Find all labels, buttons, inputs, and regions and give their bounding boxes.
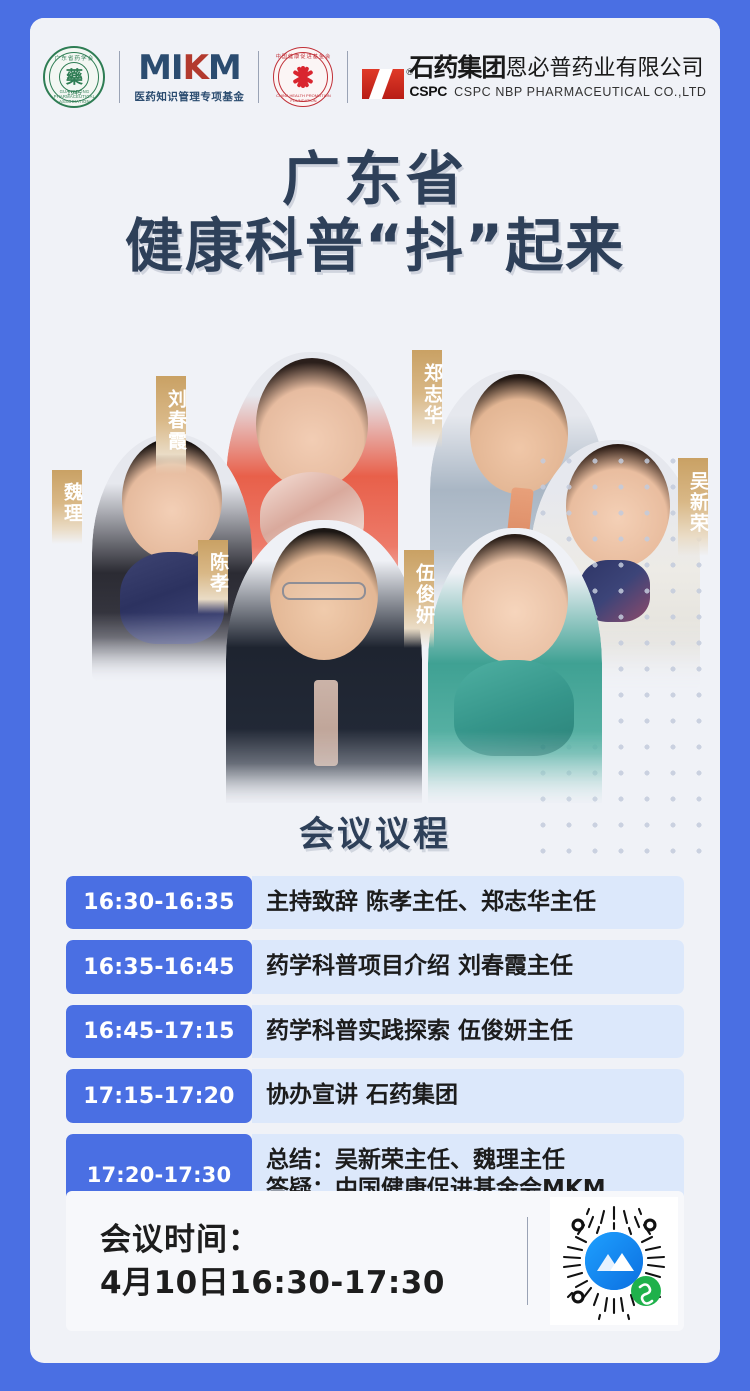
agenda-row: 17:15-17:20 协办宣讲 石药集团 — [66, 1069, 684, 1122]
speaker-head-wujunyan — [462, 534, 568, 664]
speaker-scarf-wujunyan — [454, 660, 574, 756]
agenda-topic-line: 药学科普项目介绍 刘春霞主任 — [266, 952, 670, 981]
agenda-topic: 协办宣讲 石药集团 — [252, 1069, 684, 1122]
foundation-seal-icon: 中国健康促进基金会 CHINA HEALTH PROMOTION FOUNDAT… — [273, 47, 333, 107]
agenda-topic: 主持致辞 陈孝主任、郑志华主任 — [252, 876, 684, 929]
logo-guangdong-pharmaceutical-association: 广东省药学会 藥 1945 GUANGDONG PHARMACEUTICAL A… — [43, 46, 105, 108]
logo-mkm: MIKM 医药知识管理专项基金 — [134, 51, 244, 104]
agenda-time-badge: 16:35-16:45 — [66, 940, 252, 993]
speaker-name-weili: 魏理 — [52, 470, 82, 544]
speaker-photo-wujunyan — [428, 528, 602, 803]
agenda-heading-text: 会议议程 — [299, 815, 451, 855]
logo-divider-3 — [347, 51, 348, 103]
speaker-name-wuxinrong: 吴新荣 — [678, 458, 708, 556]
logo-health-promotion-foundation: 中国健康促进基金会 CHINA HEALTH PROMOTION FOUNDAT… — [273, 47, 333, 107]
wechat-mini-program-qr-code[interactable] — [550, 1197, 678, 1325]
speaker-name-zhengzhihua: 郑志华 — [412, 350, 442, 448]
logo-divider-2 — [258, 51, 259, 103]
footer-panel: 会议时间： 4月10日16:30-17:30 — [66, 1191, 684, 1331]
mkm-letter-m1: M — [138, 48, 171, 88]
cspc-cn-bold: 石药集团 — [409, 55, 505, 80]
poster-root: 广东省药学会 藥 1945 GUANGDONG PHARMACEUTICAL A… — [0, 0, 750, 1391]
speaker-glasses-chenxiao — [282, 582, 366, 600]
mkm-letter-m2: M — [208, 48, 241, 88]
agenda-row: 16:35-16:45 药学科普项目介绍 刘春霞主任 — [66, 940, 684, 993]
agenda-topic: 药学科普实践探索 伍俊妍主任 — [252, 1005, 684, 1058]
agenda-heading: 会议议程 — [30, 806, 720, 857]
foundation-seal-emblem-icon — [290, 64, 316, 90]
agenda-row: 16:30-16:35 主持致辞 陈孝主任、郑志华主任 — [66, 876, 684, 929]
agenda-time-badge: 17:15-17:20 — [66, 1069, 252, 1122]
cspc-mark-icon — [362, 69, 404, 99]
cspc-en-regular: CSPC NBP PHARMACEUTICAL CO.,LTD — [454, 86, 706, 99]
agenda-time-badge: 16:30-16:35 — [66, 876, 252, 929]
poster-card: 广东省药学会 藥 1945 GUANGDONG PHARMACEUTICAL A… — [30, 18, 720, 1363]
speaker-tie-chenxiao — [314, 680, 338, 766]
mini-program-badge — [631, 1276, 661, 1306]
speaker-head-liuchunxia — [256, 358, 368, 490]
association-seal-glyph: 藥 — [59, 62, 89, 92]
cspc-cn-regular: 恩必普药业有限公司 — [505, 58, 703, 80]
agenda-topic: 药学科普项目介绍 刘春霞主任 — [252, 940, 684, 993]
left-accent-bar — [0, 672, 22, 852]
agenda-topic-line: 主持致辞 陈孝主任、郑志华主任 — [266, 888, 670, 917]
foundation-seal-top-text: 中国健康促进基金会 — [274, 53, 332, 60]
agenda-topic-line: 总结：吴新荣主任、魏理主任 — [266, 1146, 670, 1175]
right-accent-bar — [724, 537, 750, 797]
qr-code-icon — [554, 1201, 674, 1321]
meeting-time-label: 会议时间： — [100, 1218, 523, 1263]
logo-cspc: ® 石药集团 恩必普药业有限公司 CSPC CSPC NBP PHARMACEU… — [362, 55, 706, 99]
logo-divider-1 — [119, 51, 120, 103]
agenda-topic-line: 协办宣讲 石药集团 — [266, 1081, 670, 1110]
meeting-time-block: 会议时间： 4月10日16:30-17:30 — [66, 1218, 523, 1303]
agenda-list: 16:30-16:35 主持致辞 陈孝主任、郑志华主任 16:35-16:45 … — [66, 876, 684, 1228]
association-seal-top-text: 广东省药学会 — [45, 54, 103, 62]
mkm-subtitle: 医药知识管理专项基金 — [134, 89, 244, 104]
cspc-registered-mark: ® — [406, 67, 413, 77]
mkm-letter-k: K — [183, 48, 208, 88]
speaker-name-chenxiao: 陈孝 — [198, 540, 228, 614]
sponsor-logo-bar: 广东省药学会 藥 1945 GUANGDONG PHARMACEUTICAL A… — [30, 18, 720, 136]
meeting-time-value: 4月10日16:30-17:30 — [100, 1263, 523, 1303]
poster-title: 广东省 健康科普“抖”起来 — [30, 146, 720, 281]
speaker-photo-chenxiao — [226, 520, 422, 803]
cspc-en-bold: CSPC — [409, 84, 447, 98]
agenda-row: 16:45-17:15 药学科普实践探索 伍俊妍主任 — [66, 1005, 684, 1058]
mkm-letter-i: I — [171, 48, 183, 88]
foundation-seal-bottom-text: CHINA HEALTH PROMOTION FOUNDATION — [274, 93, 332, 103]
speaker-name-wujunyan: 伍俊妍 — [404, 550, 434, 648]
agenda-time-badge: 16:45-17:15 — [66, 1005, 252, 1058]
title-line-2: 健康科普“抖”起来 — [30, 212, 720, 280]
title-line-1: 广东省 — [30, 146, 720, 212]
speaker-name-liuchunxia: 刘春霞 — [156, 376, 186, 474]
association-seal-icon: 广东省药学会 藥 1945 GUANGDONG PHARMACEUTICAL A… — [43, 46, 105, 108]
footer-divider — [527, 1217, 528, 1305]
mkm-wordmark-icon: MIKM — [134, 51, 244, 85]
agenda-topic-line: 药学科普实践探索 伍俊妍主任 — [266, 1017, 670, 1046]
